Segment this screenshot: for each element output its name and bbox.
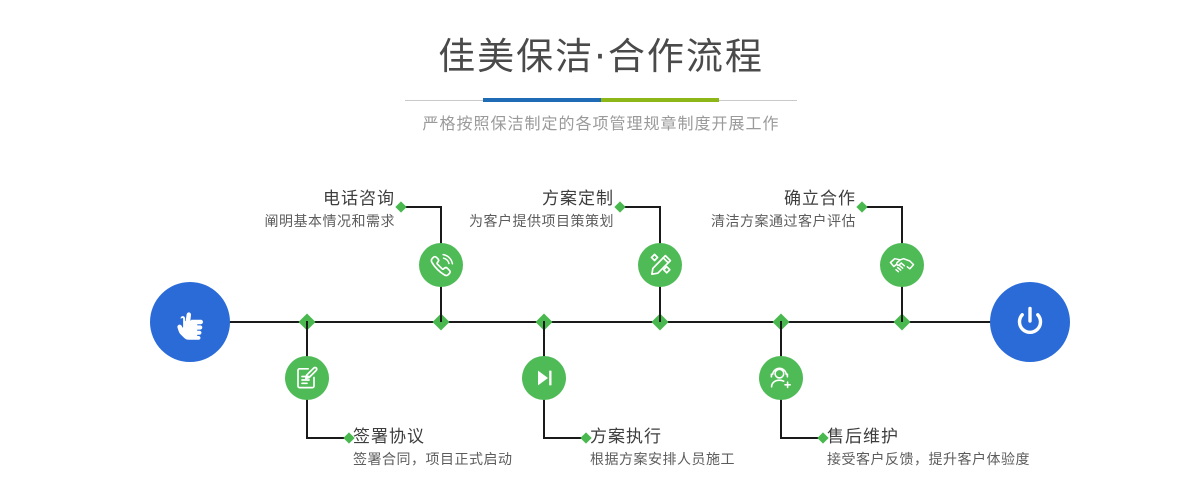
play-next-icon — [532, 366, 556, 390]
power-icon — [1008, 300, 1052, 344]
step-6-title: 售后维护 — [827, 426, 1127, 448]
header: 佳美保洁·合作流程 严格按照保洁制定的各项管理规章制度开展工作 — [0, 34, 1202, 135]
step-1-node[interactable] — [419, 243, 463, 287]
step-3-title: 方案定制 — [334, 188, 614, 210]
step-6-desc: 接受客户反馈，提升客户体验度 — [827, 450, 1127, 470]
phone-ring-icon — [428, 252, 455, 279]
step-5-desc: 清洁方案通过客户评估 — [576, 212, 856, 232]
step-5-label: 确立合作 清洁方案通过客户评估 — [576, 188, 856, 232]
step-4-node[interactable] — [522, 356, 566, 400]
step-6-node[interactable] — [759, 356, 803, 400]
document-edit-icon — [294, 365, 320, 391]
page-subtitle: 严格按照保洁制定的各项管理规章制度开展工作 — [0, 113, 1202, 135]
step-3-desc: 为客户提供项目策策划 — [334, 212, 614, 232]
step-3-node[interactable] — [638, 243, 682, 287]
timeline-end-endpoint — [990, 282, 1070, 362]
timeline-start-endpoint — [150, 282, 230, 362]
handshake-icon — [888, 251, 916, 279]
pencil-design-icon — [647, 252, 674, 279]
customer-support-icon — [768, 365, 794, 391]
step-5-node[interactable] — [880, 243, 924, 287]
step-2-horizontal-line — [306, 437, 348, 439]
step-6-label: 售后维护 接受客户反馈，提升客户体验度 — [827, 426, 1127, 470]
divider-green-segment — [601, 98, 719, 102]
step-5-label-marker — [856, 201, 867, 212]
step-3-label: 方案定制 为客户提供项目策策划 — [334, 188, 614, 232]
divider-blue-segment — [483, 98, 601, 102]
pointing-hand-icon — [169, 301, 211, 343]
step-5-title: 确立合作 — [576, 188, 856, 210]
flowchart-canvas: 佳美保洁·合作流程 严格按照保洁制定的各项管理规章制度开展工作 — [0, 0, 1202, 502]
page-title: 佳美保洁·合作流程 — [0, 34, 1202, 80]
title-divider — [405, 98, 797, 102]
step-2-node[interactable] — [285, 356, 329, 400]
